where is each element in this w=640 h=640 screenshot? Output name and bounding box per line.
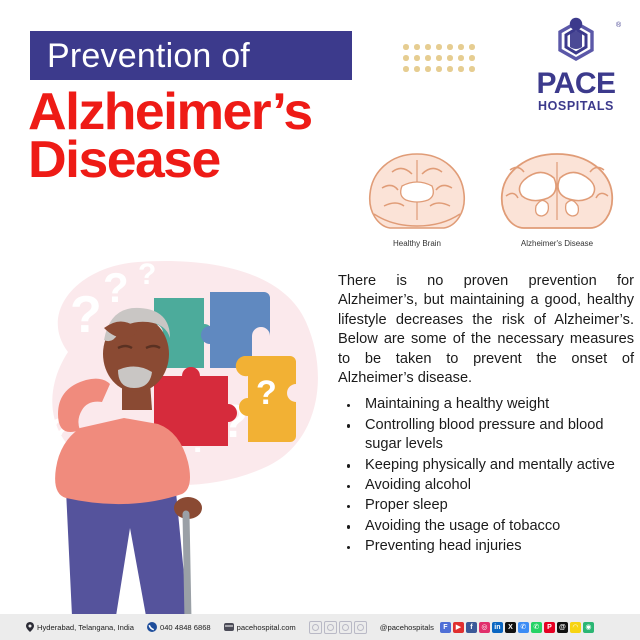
list-item: Maintaining a healthy weight	[338, 395, 634, 414]
pinterest-icon[interactable]: P	[544, 622, 555, 633]
phone-icon	[147, 622, 157, 632]
list-item: Avoiding the usage of tobacco	[338, 517, 634, 536]
accreditation-badges	[309, 621, 367, 634]
svg-text:®: ®	[616, 21, 622, 29]
list-item: Proper sleep	[338, 496, 634, 515]
healthy-brain-label: Healthy Brain	[362, 239, 472, 248]
walking-cane	[186, 514, 188, 620]
nabh-badge	[309, 621, 322, 634]
line-icon[interactable]: ◉	[583, 622, 594, 633]
trousers	[66, 484, 188, 616]
alzheimers-brain-figure: Alzheimer's Disease	[492, 150, 622, 248]
social-icon-row[interactable]: F▶f◎inX✆✆P@◠◉	[440, 622, 594, 633]
list-item: Preventing head injuries	[338, 537, 634, 556]
youtube-icon[interactable]: ▶	[453, 622, 464, 633]
healthy-brain-figure: Healthy Brain	[362, 150, 472, 248]
nabl-badge	[324, 621, 337, 634]
list-item: Avoiding alcohol	[338, 476, 634, 495]
facebook-icon[interactable]: f	[466, 622, 477, 633]
dot-row	[403, 44, 475, 50]
snapchat-icon[interactable]: ◠	[570, 622, 581, 633]
dot-grid-decoration	[403, 44, 475, 77]
alzheimers-brain-label: Alzheimer's Disease	[492, 239, 622, 248]
footer-location: Hyderabad, Telangana, India	[26, 622, 134, 632]
footer-bar: Hyderabad, Telangana, India 040 4848 686…	[0, 614, 640, 640]
footer-website[interactable]: pacehospital.com	[224, 622, 296, 632]
infographic-canvas: Prevention of Alzheimer’s Disease ®	[0, 0, 640, 640]
messenger-icon[interactable]: ✆	[518, 622, 529, 633]
healthy-brain-illustration	[362, 150, 472, 232]
x-twitter-icon[interactable]: X	[505, 622, 516, 633]
logo-subtext: HOSPITALS	[524, 99, 628, 113]
list-item: Keeping physically and mentally active	[338, 456, 634, 475]
flipboard-icon[interactable]: F	[440, 622, 451, 633]
footer-social-handle: @pacehospitals	[380, 623, 434, 632]
social-handle-text: @pacehospitals	[380, 623, 434, 632]
svg-text:?: ?	[36, 478, 52, 508]
map-pin-icon	[26, 622, 34, 632]
intro-paragraph: There is no proven prevention for Alzhei…	[338, 272, 634, 388]
list-item: Controlling blood pressure and blood sug…	[338, 416, 634, 455]
dot-row	[403, 66, 475, 72]
footer-phone-text: 040 4848 6868	[160, 623, 211, 632]
linkedin-icon[interactable]: in	[492, 622, 503, 633]
iso-badge	[339, 621, 352, 634]
whatsapp-icon[interactable]: ✆	[531, 622, 542, 633]
jci-badge	[354, 621, 367, 634]
title-banner: Prevention of	[30, 31, 352, 80]
dot-row	[403, 55, 475, 61]
footer-website-text: pacehospital.com	[237, 623, 296, 632]
footer-phone[interactable]: 040 4848 6868	[147, 622, 211, 632]
instagram-icon[interactable]: ◎	[479, 622, 490, 633]
puzzle-question-mark: ?	[256, 374, 277, 412]
content-column: There is no proven prevention for Alzhei…	[338, 272, 634, 558]
pace-hospitals-logo: ® PACE HOSPITALS	[524, 17, 628, 121]
svg-text:?: ?	[70, 286, 102, 344]
logo-wordmark: PACE	[524, 69, 628, 99]
alzheimers-brain-illustration	[492, 150, 622, 232]
svg-text:?: ?	[138, 258, 156, 291]
threads-icon[interactable]: @	[557, 622, 568, 633]
title-line-1: Prevention of	[30, 39, 250, 73]
globe-icon	[224, 622, 234, 632]
prevention-measures-list: Maintaining a healthy weight Controlling…	[338, 395, 634, 556]
elderly-man-illustration: ? ? ? ? ? ? ? ? ?	[18, 252, 330, 620]
footer-location-text: Hyderabad, Telangana, India	[37, 623, 134, 632]
hexagon-person-icon: ®	[524, 17, 628, 69]
brain-comparison: Healthy Brain Alzheimer's Disease	[352, 150, 632, 255]
svg-text:?: ?	[103, 264, 129, 311]
